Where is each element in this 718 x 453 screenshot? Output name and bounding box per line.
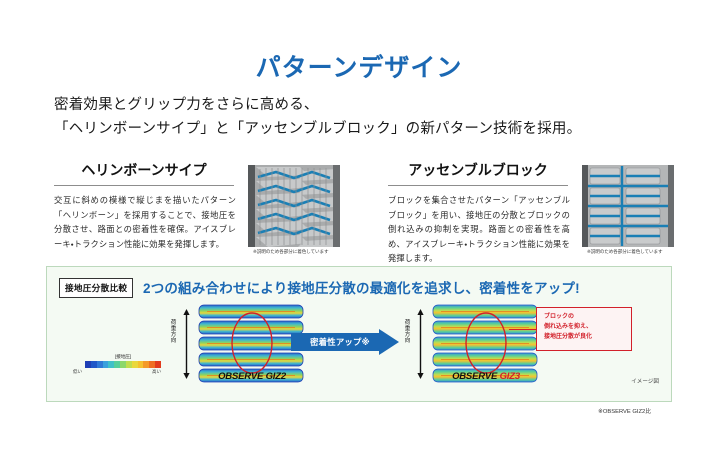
scale-title: [接地圧] <box>79 353 167 360</box>
subtitle-block: 密着効果とグリップ力をさらに高める、 「ヘリンボーンサイプ」と「アッセンブルブロ… <box>54 94 581 142</box>
callout-line-1: ブロックの <box>544 313 631 323</box>
scale-gradient-bar <box>85 361 161 368</box>
feature-body-assemble: ブロックを集合させたパターン「アッセンブルブロック」を用い、接地圧の分散とブロッ… <box>388 193 570 266</box>
feature-heading-herringbone: ヘリンボーンサイプ <box>54 160 234 185</box>
scale-end-labels: 低い 高い <box>73 369 161 375</box>
tread-photo-assemble <box>582 165 674 247</box>
load-axis-right: 荷重方向 <box>403 309 429 379</box>
callout-line-3: 接地圧分散が良化 <box>544 333 631 343</box>
tread-photo-herringbone <box>248 165 340 247</box>
product-label-giz3: OBSERVE GIZ3 <box>411 371 561 382</box>
infographic-page: パターンデザイン 密着効果とグリップ力をさらに高める、 「ヘリンボーンサイプ」と… <box>0 0 718 453</box>
divider-right <box>388 185 568 186</box>
scale-swatch <box>155 361 161 368</box>
photo-note-right: ※説明のため各部分に着色しています <box>587 249 663 255</box>
image-footnote: イメージ図 <box>631 377 659 385</box>
panel-badge: 接地圧分散比較 <box>59 278 133 298</box>
double-arrow-icon <box>417 309 424 379</box>
improvement-arrow: 密着性アップ※ <box>291 329 399 355</box>
double-arrow-icon <box>183 309 190 379</box>
product-model: GIZ3 <box>500 371 520 382</box>
page-title: パターンデザイン <box>0 48 718 84</box>
callout-text: ブロックの 倒れ込みを抑え、 接地圧分散が良化 <box>537 308 631 343</box>
callout-line-2: 倒れ込みを抑え、 <box>544 323 631 333</box>
load-axis-label-right: 荷重方向 <box>403 321 412 344</box>
callout-connector <box>509 329 537 330</box>
pressure-comparison-panel: 接地圧分散比較 2つの組み合わせにより接地圧分散の最適化を追求し、密着性をアップ… <box>46 266 672 402</box>
divider-left <box>54 185 234 186</box>
subtitle-line-2: 「ヘリンボーンサイプ」と「アッセンブルブロック」の新パターン技術を採用。 <box>54 118 581 142</box>
feature-heading-assemble: アッセンブルブロック <box>388 160 568 185</box>
product-label-giz2: OBSERVE GIZ2 <box>177 371 327 382</box>
product-brand: OBSERVE <box>452 371 497 382</box>
photo-note-left: ※説明のため各部分に着色しています <box>253 249 329 255</box>
panel-headline: 2つの組み合わせにより接地圧分散の最適化を追求し、密着性をアップ! <box>143 277 580 297</box>
reference-footnote: ※OBSERVE GIZ2比 <box>598 406 651 415</box>
scale-low-label: 低い <box>73 369 82 375</box>
feature-body-herringbone: 交互に斜めの模様で縦じまを描いたパターン「ヘリンボーン」を採用することで、接地圧… <box>54 193 236 251</box>
pressure-scale-legend: [接地圧] 低い 高い <box>79 353 167 375</box>
callout-box: ブロックの 倒れ込みを抑え、 接地圧分散が良化 <box>536 307 632 351</box>
load-axis-label-left: 荷重方向 <box>169 321 178 344</box>
improvement-arrow-label: 密着性アップ※ <box>299 336 381 348</box>
load-axis-left: 荷重方向 <box>169 309 195 379</box>
scale-high-label: 高い <box>152 369 161 375</box>
subtitle-line-1: 密着効果とグリップ力をさらに高める、 <box>54 94 581 118</box>
